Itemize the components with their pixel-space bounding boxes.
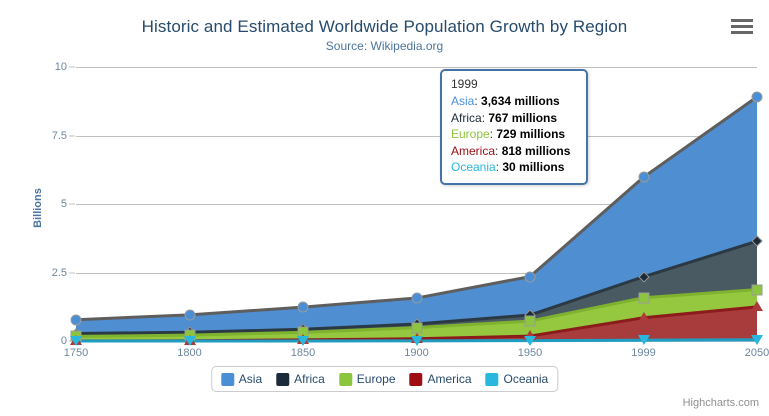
data-point-marker[interactable] [525,271,536,282]
data-point-marker[interactable] [751,301,763,311]
tooltip-series-name: America [451,144,495,158]
tooltip-series-value: 729 millions [496,127,565,141]
legend-label: Africa [294,372,325,386]
y-axis-tick-mark [69,135,75,136]
legend-item-oceania[interactable]: Oceania [486,372,549,386]
x-axis-tick-label: 1800 [177,347,201,359]
tooltip-row: Europe: 729 millions [451,126,577,143]
data-point-marker[interactable] [298,302,309,313]
x-axis-tick-label: 1999 [631,347,655,359]
data-point-marker[interactable] [524,336,536,346]
legend-swatch [486,373,499,386]
hamburger-menu-icon[interactable] [729,15,755,37]
data-point-marker[interactable] [411,336,423,346]
data-point-marker[interactable] [411,293,422,304]
credits-label[interactable]: Highcharts.com [683,397,759,409]
tooltip-row: Oceania: 30 millions [451,159,577,176]
tooltip-series-name: Oceania [451,160,496,174]
data-point-marker[interactable] [411,322,422,333]
y-axis-tick-label: 10 [55,61,67,73]
tooltip-series-value: 767 millions [488,111,557,125]
x-axis-tick-label: 1950 [518,347,542,359]
legend-item-africa[interactable]: Africa [276,372,325,386]
chart-title: Historic and Estimated Worldwide Populat… [0,17,769,37]
y-axis-tick-label: 2.5 [52,267,67,279]
legend-item-america[interactable]: America [410,372,472,386]
legend-item-europe[interactable]: Europe [339,372,396,386]
data-point-marker[interactable] [297,336,309,346]
y-axis-tick-mark [69,272,75,273]
y-axis-tick-label: 0 [61,335,67,347]
tooltip-row: America: 818 millions [451,143,577,160]
x-axis-tick-label: 1750 [64,347,88,359]
tooltip-rows: Asia: 3,634 millionsAfrica: 767 millions… [451,93,577,176]
data-point-marker[interactable] [184,336,196,346]
data-point-marker[interactable] [638,312,650,322]
data-point-marker[interactable] [638,172,649,183]
y-axis-tick-label: 7.5 [52,130,67,142]
chart-subtitle: Source: Wikipedia.org [0,39,769,53]
legend-label: Europe [357,372,396,386]
legend-swatch [276,373,289,386]
data-point-marker[interactable] [751,335,763,345]
tooltip-series-name: Asia [451,94,474,108]
data-point-marker[interactable] [70,336,82,346]
tooltip-row: Africa: 767 millions [451,110,577,127]
legend-swatch [221,373,234,386]
data-point-marker[interactable] [752,284,763,295]
legend-label: America [428,372,472,386]
data-point-marker[interactable] [638,335,650,345]
tooltip-row: Asia: 3,634 millions [451,93,577,110]
tooltip: 1999 Asia: 3,634 millionsAfrica: 767 mil… [440,69,588,185]
y-axis-tick-mark [69,204,75,205]
data-point-marker[interactable] [525,316,536,327]
chart-container: Historic and Estimated Worldwide Populat… [0,0,769,416]
tooltip-series-value: 3,634 millions [481,94,560,108]
tooltip-separator: : [474,94,481,108]
legend: AsiaAfricaEuropeAmericaOceania [211,366,558,392]
legend-label: Oceania [504,372,549,386]
x-axis-tick-label: 2050 [745,347,769,359]
data-point-marker[interactable] [638,292,649,303]
plot-area: 02.557.510 1750180018501900195019992050 [76,67,757,341]
tooltip-separator: : [495,144,502,158]
legend-swatch [410,373,423,386]
y-axis-title: Billions [32,188,44,228]
tooltip-series-value: 30 millions [502,160,564,174]
data-point-marker[interactable] [71,314,82,325]
x-axis-tick-label: 1900 [404,347,428,359]
x-axis-tick-label: 1850 [291,347,315,359]
legend-swatch [339,373,352,386]
legend-label: Asia [239,372,262,386]
tooltip-series-name: Europe [451,127,490,141]
y-axis-tick-mark [69,67,75,68]
data-point-marker[interactable] [752,91,763,102]
tooltip-series-value: 818 millions [502,144,571,158]
y-axis-tick-label: 5 [61,198,67,210]
tooltip-header: 1999 [451,77,577,91]
data-point-marker[interactable] [184,309,195,320]
tooltip-series-name: Africa [451,111,482,125]
legend-item-asia[interactable]: Asia [221,372,262,386]
